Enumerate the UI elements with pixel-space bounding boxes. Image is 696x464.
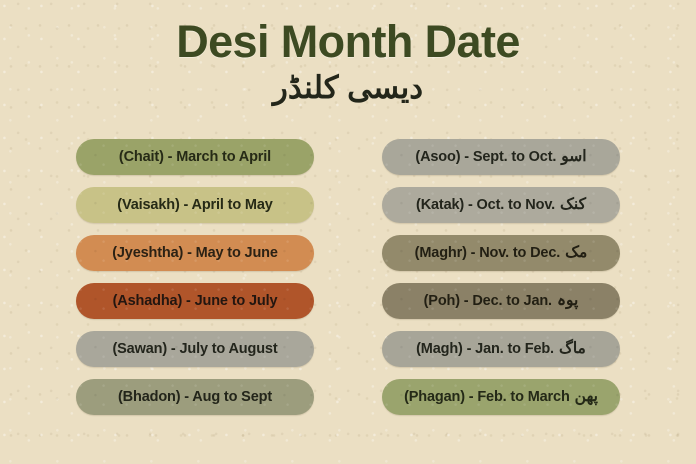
month-pill-content: (Magh) - Jan. to Feb.ماگ (416, 341, 586, 357)
month-pill-content: (Phagan) - Feb. to Marchپھن (404, 389, 598, 405)
month-pill-content: (Jyeshtha) - May to June (112, 246, 278, 261)
month-pill-label-urdu: اسو (561, 149, 586, 165)
month-pill-label: (Phagan) - Feb. to March (404, 390, 570, 405)
month-pill-content: (Bhadon) - Aug to Sept (118, 390, 272, 405)
poster-header: Desi Month Date دیسی کلنڈر (0, 0, 696, 107)
month-pill-bhadon[interactable]: (Bhadon) - Aug to Sept (76, 379, 314, 415)
month-pill-content: (Asoo) - Sept. to Oct.اسو (415, 149, 586, 165)
month-pill-label-urdu: کنک (560, 197, 586, 213)
month-pill-content: (Ashadha) - June to July (113, 294, 278, 309)
month-pill-label-urdu: پوہ (557, 293, 578, 309)
month-pill-magh[interactable]: (Magh) - Jan. to Feb.ماگ (382, 331, 620, 367)
month-pill-poh[interactable]: (Poh) - Dec. to Jan.پوہ (382, 283, 620, 319)
month-pill-label: (Jyeshtha) - May to June (112, 246, 278, 261)
month-pill-asoo[interactable]: (Asoo) - Sept. to Oct.اسو (382, 139, 620, 175)
month-pill-label-urdu: مک (565, 245, 587, 261)
month-pill-phagan[interactable]: (Phagan) - Feb. to Marchپھن (382, 379, 620, 415)
month-pill-label: (Ashadha) - June to July (113, 294, 278, 309)
month-pill-label-urdu: پھن (575, 389, 598, 405)
month-pill-content: (Poh) - Dec. to Jan.پوہ (424, 293, 579, 309)
month-pill-content: (Vaisakh) - April to May (117, 198, 272, 213)
month-pill-content: (Sawan) - July to August (112, 342, 277, 357)
month-column-left: (Chait) - March to April(Vaisakh) - Apri… (76, 139, 314, 415)
month-column-right: (Asoo) - Sept. to Oct.اسو(Katak) - Oct. … (382, 139, 620, 415)
month-pill-maghr[interactable]: (Maghr) - Nov. to Dec.مک (382, 235, 620, 271)
month-pill-content: (Chait) - March to April (119, 150, 271, 165)
month-pill-label: (Poh) - Dec. to Jan. (424, 294, 552, 309)
month-columns: (Chait) - March to April(Vaisakh) - Apri… (0, 139, 696, 415)
month-pill-katak[interactable]: (Katak) - Oct. to Nov.کنک (382, 187, 620, 223)
month-pill-vaisakh[interactable]: (Vaisakh) - April to May (76, 187, 314, 223)
month-pill-sawan[interactable]: (Sawan) - July to August (76, 331, 314, 367)
month-pill-label: (Bhadon) - Aug to Sept (118, 390, 272, 405)
month-pill-content: (Maghr) - Nov. to Dec.مک (415, 245, 588, 261)
month-pill-label: (Maghr) - Nov. to Dec. (415, 246, 560, 261)
month-pill-label: (Katak) - Oct. to Nov. (416, 198, 555, 213)
month-pill-label: (Vaisakh) - April to May (117, 198, 272, 213)
month-pill-content: (Katak) - Oct. to Nov.کنک (416, 197, 586, 213)
page-title: Desi Month Date (0, 0, 696, 67)
month-pill-label: (Chait) - March to April (119, 150, 271, 165)
page-subtitle-urdu: دیسی کلنڈر (0, 67, 696, 108)
month-pill-label: (Magh) - Jan. to Feb. (416, 342, 554, 357)
month-pill-ashadha[interactable]: (Ashadha) - June to July (76, 283, 314, 319)
month-pill-label: (Sawan) - July to August (112, 342, 277, 357)
month-pill-label-urdu: ماگ (559, 341, 586, 357)
month-pill-label: (Asoo) - Sept. to Oct. (415, 150, 556, 165)
month-pill-jyeshtha[interactable]: (Jyeshtha) - May to June (76, 235, 314, 271)
month-pill-chait[interactable]: (Chait) - March to April (76, 139, 314, 175)
